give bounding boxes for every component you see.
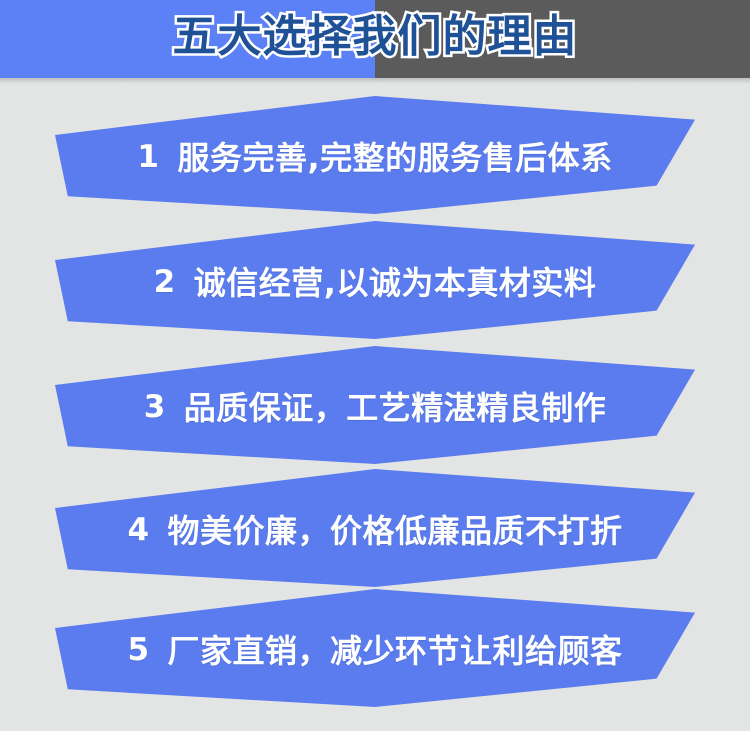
reason-banner-1-content: 1 服务完善,完整的服务售后体系: [55, 96, 695, 214]
reason-banner-2: 2 诚信经营,以诚为本真材实料: [55, 221, 695, 339]
reason-banner-1-index: 1: [137, 142, 159, 173]
page-header: 五大选择我们的理由: [0, 0, 750, 78]
reason-banner-3: 3 品质保证，工艺精湛精良制作: [55, 346, 695, 464]
reason-banner-4-index: 4: [127, 515, 149, 546]
reason-banner-5: 5 厂家直销，减少环节让利给顾客: [55, 589, 695, 707]
reason-banner-3-index: 3: [144, 392, 166, 423]
reason-banner-5-content: 5 厂家直销，减少环节让利给顾客: [55, 589, 695, 707]
reason-banner-4: 4 物美价廉，价格低廉品质不打折: [55, 469, 695, 587]
reason-banner-3-label: 品质保证，工艺精湛精良制作: [184, 392, 607, 424]
reason-banner-1-label: 服务完善,完整的服务售后体系: [177, 142, 612, 174]
reason-banner-2-label: 诚信经营,以诚为本真材实料: [194, 267, 597, 299]
reason-banner-4-label: 物美价廉，价格低廉品质不打折: [168, 515, 623, 547]
reason-banner-3-content: 3 品质保证，工艺精湛精良制作: [55, 346, 695, 464]
reason-banner-4-content: 4 物美价廉，价格低廉品质不打折: [55, 469, 695, 587]
reasons-list: 1 服务完善,完整的服务售后体系 2 诚信经营,以诚为本真材实料 3 品质保证，…: [0, 78, 750, 731]
reason-banner-5-label: 厂家直销，减少环节让利给顾客: [168, 635, 623, 667]
reason-banner-2-content: 2 诚信经营,以诚为本真材实料: [55, 221, 695, 339]
reason-banner-1: 1 服务完善,完整的服务售后体系: [55, 96, 695, 214]
promo-page: 五大选择我们的理由 1 服务完善,完整的服务售后体系 2 诚信经营,以诚为本真材…: [0, 0, 750, 731]
reason-banner-2-index: 2: [154, 267, 176, 298]
page-title: 五大选择我们的理由: [0, 0, 750, 78]
reason-banner-5-index: 5: [127, 635, 149, 666]
